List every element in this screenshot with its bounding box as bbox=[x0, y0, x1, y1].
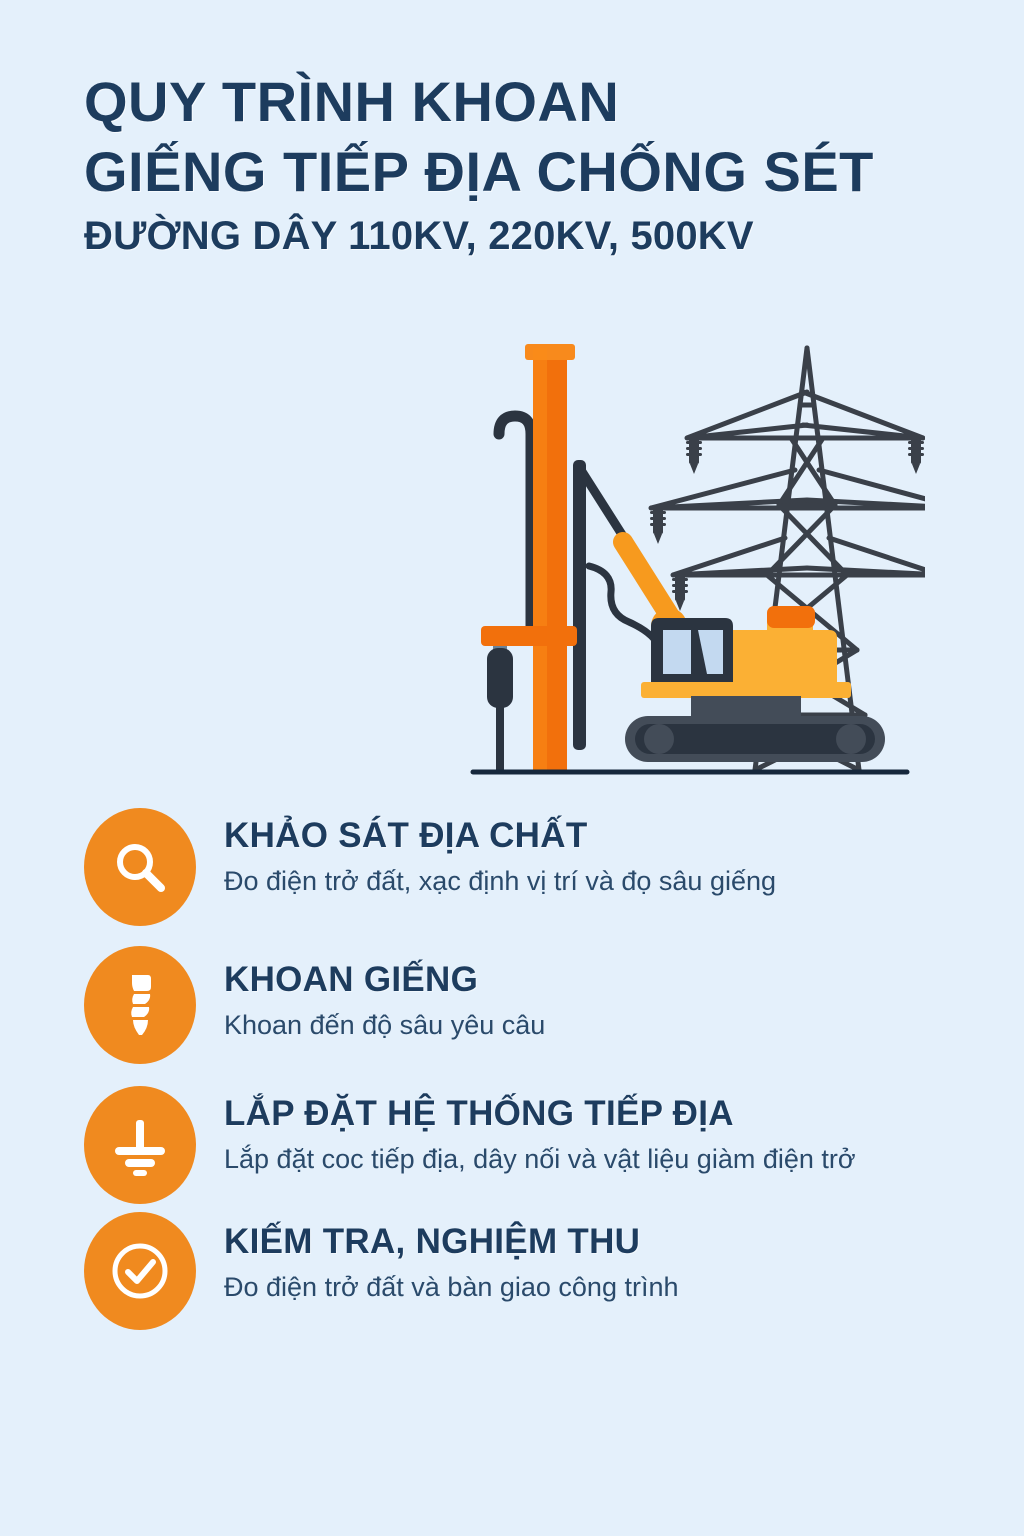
infographic-poster: QUY TRÌNH KHOAN GIẾNG TIẾP ĐỊA CHỐNG SÉT… bbox=[0, 0, 1024, 1536]
step-text-1: KHẢO SÁT ĐỊA CHẤT Đo điện trở đất, xạc đ… bbox=[224, 808, 964, 900]
title-line-1: QUY TRÌNH KHOAN bbox=[84, 74, 984, 130]
step-icon-circle-3 bbox=[84, 1086, 196, 1204]
step-description: Đo điện trở đất và bàn giao công trình bbox=[224, 1269, 924, 1306]
step-title: LẮP ĐẶT HỆ THỐNG TIẾP ĐỊA bbox=[224, 1094, 964, 1133]
step-text-4: KIẾM TRA, NGHIỆM THU Đo điện trở đất và … bbox=[224, 1212, 964, 1306]
page-title: QUY TRÌNH KHOAN GIẾNG TIẾP ĐỊA CHỐNG SÉT… bbox=[84, 74, 984, 256]
list-item[interactable]: KHOAN GIẾNG Khoan đến độ sâu yêu câu bbox=[84, 946, 964, 1064]
step-icon-circle-4 bbox=[84, 1212, 196, 1330]
magnifier-icon bbox=[111, 838, 169, 896]
step-description: Lắp đặt coc tiếp địa, dây nối và vật liệ… bbox=[224, 1141, 924, 1178]
step-text-3: LẮP ĐẶT HỆ THỐNG TIẾP ĐỊA Lắp đặt coc ti… bbox=[224, 1086, 964, 1178]
drill-bit-icon bbox=[116, 973, 164, 1037]
step-icon-circle-2 bbox=[84, 946, 196, 1064]
step-description: Khoan đến độ sâu yêu câu bbox=[224, 1007, 924, 1044]
list-item[interactable]: KIẾM TRA, NGHIỆM THU Đo điện trở đất và … bbox=[84, 1212, 964, 1330]
drill-rig-graphic bbox=[481, 344, 687, 774]
step-title: KHẢO SÁT ĐỊA CHẤT bbox=[224, 816, 964, 855]
excavator-graphic bbox=[625, 606, 885, 762]
list-item[interactable]: LẮP ĐẶT HỆ THỐNG TIẾP ĐỊA Lắp đặt coc ti… bbox=[84, 1086, 964, 1204]
step-text-2: KHOAN GIẾNG Khoan đến độ sâu yêu câu bbox=[224, 946, 964, 1044]
step-icon-circle-1 bbox=[84, 808, 196, 926]
step-title: KHOAN GIẾNG bbox=[224, 960, 964, 999]
step-description: Đo điện trở đất, xạc định vị trí và đọ s… bbox=[224, 863, 924, 900]
title-line-2: GIẾNG TIẾP ĐỊA CHỐNG SÉT bbox=[84, 144, 984, 200]
check-circle-icon bbox=[109, 1240, 171, 1302]
earth-ground-icon bbox=[109, 1114, 171, 1176]
process-steps-list: KHẢO SÁT ĐỊA CHẤT Đo điện trở đất, xạc đ… bbox=[84, 808, 964, 1330]
title-subtitle-line: ĐƯỜNG DÂY 110KV, 220KV, 500KV bbox=[84, 216, 984, 256]
illustration-drilling-rig-and-tower bbox=[455, 330, 925, 790]
list-item[interactable]: KHẢO SÁT ĐỊA CHẤT Đo điện trở đất, xạc đ… bbox=[84, 808, 964, 926]
step-title: KIẾM TRA, NGHIỆM THU bbox=[224, 1222, 964, 1261]
